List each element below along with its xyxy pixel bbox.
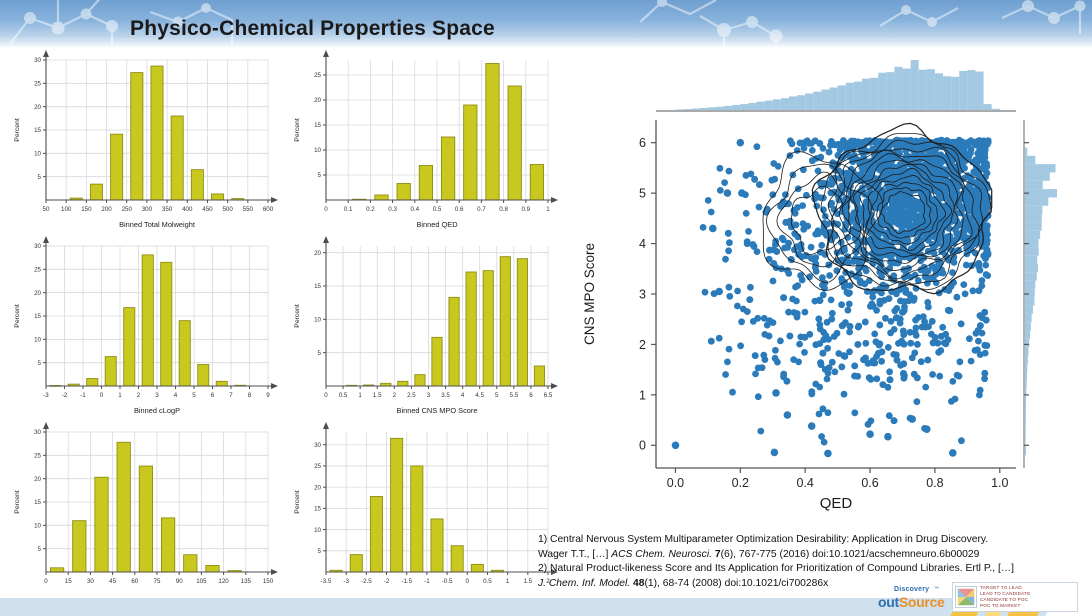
svg-text:1: 1	[639, 388, 646, 402]
svg-text:30: 30	[34, 429, 41, 436]
svg-text:25: 25	[34, 81, 41, 88]
svg-text:6.5: 6.5	[544, 392, 553, 399]
bar	[73, 521, 86, 572]
svg-text:0.3: 0.3	[388, 206, 397, 213]
chart-canvas-qed: 00.10.20.30.40.50.60.70.80.91510152025Bi…	[288, 50, 560, 236]
bar	[206, 565, 219, 572]
svg-text:-3.5: -3.5	[321, 578, 332, 585]
logo-out-part: out	[878, 594, 899, 610]
svg-text:0: 0	[44, 578, 48, 585]
svg-text:550: 550	[243, 206, 254, 213]
bar	[105, 357, 116, 386]
svg-text:15: 15	[34, 499, 41, 506]
histogram-cns-mpo: 00.511.522.533.544.555.566.55101520Binne…	[288, 236, 560, 422]
svg-text:500: 500	[222, 206, 233, 213]
svg-text:600: 600	[263, 206, 274, 213]
svg-text:-3: -3	[343, 578, 349, 585]
bar	[451, 546, 463, 572]
page-title: Physico-Chemical Properties Space	[130, 17, 495, 41]
bar	[508, 86, 521, 200]
citation-1-authors: Wager T.T., […]	[538, 549, 611, 560]
svg-text:5: 5	[318, 172, 322, 179]
bar	[419, 166, 432, 201]
x-axis-label-molweight: Binned Total Molweight	[119, 220, 195, 229]
svg-text:30: 30	[34, 57, 41, 64]
svg-text:-2.5: -2.5	[361, 578, 372, 585]
x-axis-label-cns_mpo: Binned CNS MPO Score	[397, 406, 478, 415]
histogram-qed: 00.10.20.30.40.50.60.70.80.91510152025Bi…	[288, 50, 560, 236]
chart-canvas-tpsa: 015304560759010512013515051015202530Binn…	[8, 422, 280, 608]
histogram-tpsa: 015304560759010512013515051015202530Binn…	[8, 422, 280, 608]
svg-text:5: 5	[495, 392, 499, 399]
bar	[95, 477, 108, 572]
bar	[483, 271, 493, 386]
svg-text:0.7: 0.7	[477, 206, 486, 213]
svg-text:0.5: 0.5	[433, 206, 442, 213]
bar	[191, 170, 203, 200]
bar	[350, 555, 362, 572]
svg-text:2.5: 2.5	[407, 392, 416, 399]
bar	[50, 568, 63, 572]
svg-text:-1: -1	[80, 392, 86, 399]
bar	[432, 337, 442, 386]
svg-text:1: 1	[118, 392, 122, 399]
svg-text:20: 20	[34, 104, 41, 111]
y-axis-label-molweight: Percent	[14, 118, 21, 142]
bar	[517, 259, 527, 386]
svg-text:90: 90	[176, 578, 183, 585]
svg-text:4: 4	[639, 237, 646, 251]
svg-text:10: 10	[34, 151, 41, 158]
bar	[139, 466, 152, 572]
svg-text:150: 150	[263, 578, 274, 585]
bar	[449, 297, 459, 386]
bar	[534, 366, 544, 386]
bar	[179, 321, 190, 386]
bar	[370, 496, 382, 572]
svg-text:10: 10	[314, 527, 321, 534]
svg-text:0.5: 0.5	[339, 392, 348, 399]
svg-text:1: 1	[506, 578, 510, 585]
svg-text:4.5: 4.5	[475, 392, 484, 399]
y-axis-label-tpsa: Percent	[14, 490, 21, 514]
hourglass-icon	[955, 586, 977, 608]
svg-text:10: 10	[34, 337, 41, 344]
svg-text:0.0: 0.0	[667, 476, 684, 490]
bar	[431, 519, 443, 572]
svg-text:30: 30	[314, 442, 321, 449]
chart-canvas-clogp: -3-2-1012345678951015202530Binned cLogPP…	[8, 236, 280, 422]
bar	[131, 73, 143, 200]
svg-text:0.5: 0.5	[483, 578, 492, 585]
svg-text:20: 20	[34, 290, 41, 297]
svg-text:15: 15	[34, 313, 41, 320]
bar	[398, 381, 408, 386]
svg-text:0.6: 0.6	[455, 206, 464, 213]
svg-text:20: 20	[314, 250, 321, 257]
bar	[486, 64, 499, 201]
bar	[111, 134, 123, 200]
logo-source-part: Source	[899, 594, 945, 610]
svg-text:0: 0	[639, 439, 646, 453]
svg-text:3: 3	[427, 392, 431, 399]
svg-text:100: 100	[61, 206, 72, 213]
svg-text:-1.5: -1.5	[401, 578, 412, 585]
citation-2-title: 2) Natural Product-likeness Score and It…	[538, 563, 1014, 574]
svg-text:135: 135	[241, 578, 252, 585]
slide-header: Physico-Chemical Properties Space	[0, 0, 1092, 48]
histogram-grid: 5010015020025030035040045050055060051015…	[8, 50, 560, 602]
svg-text:60: 60	[131, 578, 138, 585]
svg-text:0.2: 0.2	[366, 206, 375, 213]
svg-text:1.5: 1.5	[524, 578, 533, 585]
svg-text:-3: -3	[43, 392, 49, 399]
joint-y-axis-label: CNS MPO Score	[582, 243, 597, 345]
chart-canvas-npl: -3.5-3-2.5-2-1.5-1-0.500.511.52510152025…	[288, 422, 560, 608]
svg-text:0.8: 0.8	[499, 206, 508, 213]
svg-text:3: 3	[639, 287, 646, 301]
citation-1-journal: ACS Chem. Neurosci.	[611, 549, 715, 560]
citation-1-line-2: Wager T.T., […] ACS Chem. Neurosci. 7(6)…	[538, 548, 1086, 563]
citation-2-line-1: 2) Natural Product-likeness Score and It…	[538, 562, 1086, 577]
chart-canvas-molweight: 5010015020025030035040045050055060051015…	[8, 50, 280, 236]
svg-text:0.2: 0.2	[732, 476, 749, 490]
logo-discovery-word: Discovery	[894, 586, 929, 593]
bar	[142, 255, 153, 386]
svg-text:0: 0	[466, 578, 470, 585]
svg-text:5: 5	[38, 174, 42, 181]
joint-x-axis-label: QED	[820, 495, 853, 512]
svg-text:5: 5	[38, 360, 42, 367]
y-axis-label-qed: Percent	[294, 118, 301, 142]
svg-text:150: 150	[81, 206, 92, 213]
bar	[161, 262, 172, 386]
histogram-npl: -3.5-3-2.5-2-1.5-1-0.500.511.52510152025…	[288, 422, 560, 608]
citation-1-line-1: 1) Central Nervous System Multiparameter…	[538, 533, 1086, 548]
svg-text:1.5: 1.5	[373, 392, 382, 399]
svg-text:-0.5: -0.5	[442, 578, 453, 585]
y-axis-label-npl: Percent	[294, 490, 301, 514]
bar	[90, 184, 102, 200]
svg-text:0: 0	[324, 392, 328, 399]
svg-text:20: 20	[34, 476, 41, 483]
svg-text:5: 5	[318, 350, 322, 357]
logo-trademark-symbol: ™	[934, 586, 939, 592]
histogram-clogp: -3-2-1012345678951015202530Binned cLogPP…	[8, 236, 280, 422]
svg-text:2: 2	[137, 392, 141, 399]
x-axis-label-qed: Binned QED	[416, 220, 457, 229]
svg-text:-2: -2	[62, 392, 68, 399]
histogram-molweight: 5010015020025030035040045050055060051015…	[8, 50, 280, 236]
svg-text:4: 4	[174, 392, 178, 399]
logo-tagline-lines: Target to Lead Lead to Candidate Candida…	[980, 585, 1030, 609]
svg-text:50: 50	[43, 206, 50, 213]
svg-text:45: 45	[109, 578, 116, 585]
bar	[391, 438, 403, 572]
svg-text:25: 25	[314, 463, 321, 470]
chart-canvas-cns_mpo: 00.511.522.533.544.555.566.55101520Binne…	[288, 236, 560, 422]
svg-text:300: 300	[142, 206, 153, 213]
bar	[500, 257, 510, 386]
bar	[464, 105, 477, 200]
bar	[198, 365, 209, 386]
logo-discovery-outsource: Discovery ™ outSource	[878, 586, 950, 614]
bar	[530, 165, 543, 201]
bar	[397, 184, 410, 201]
svg-text:-2: -2	[384, 578, 390, 585]
svg-text:0.4: 0.4	[796, 476, 813, 490]
logo-target-to-lead: Target to Lead Lead to Candidate Candida…	[952, 582, 1078, 612]
svg-text:5.5: 5.5	[510, 392, 519, 399]
svg-text:-1: -1	[424, 578, 430, 585]
svg-text:20: 20	[314, 97, 321, 104]
svg-text:7: 7	[229, 392, 233, 399]
svg-text:15: 15	[314, 122, 321, 129]
citation-1-pages-doi: (6), 767-775 (2016) doi:10.1021/acschemn…	[721, 549, 980, 560]
joint-plot-qed-vs-cns-mpo: 0.00.20.40.60.81.00123456QEDCNS MPO Scor…	[568, 48, 1060, 530]
svg-text:0: 0	[324, 206, 328, 213]
y-axis-label-clogp: Percent	[14, 304, 21, 328]
svg-text:9: 9	[266, 392, 270, 399]
svg-text:5: 5	[38, 546, 42, 553]
bar	[117, 442, 130, 572]
svg-text:15: 15	[314, 283, 321, 290]
svg-text:3.5: 3.5	[441, 392, 450, 399]
svg-text:1.0: 1.0	[991, 476, 1008, 490]
logo-tagline-4: PoC to Market	[980, 603, 1030, 609]
svg-text:10: 10	[314, 147, 321, 154]
svg-text:25: 25	[314, 72, 321, 79]
svg-text:0: 0	[100, 392, 104, 399]
svg-text:1: 1	[358, 392, 362, 399]
svg-text:6: 6	[211, 392, 215, 399]
svg-text:30: 30	[34, 243, 41, 250]
svg-text:200: 200	[101, 206, 112, 213]
svg-text:2: 2	[639, 338, 646, 352]
joint-plot-canvas: 0.00.20.40.60.81.00123456QEDCNS MPO Scor…	[568, 48, 1060, 530]
svg-text:15: 15	[314, 506, 321, 513]
bar	[415, 375, 425, 386]
svg-text:120: 120	[218, 578, 229, 585]
svg-text:3: 3	[155, 392, 159, 399]
svg-text:5: 5	[192, 392, 196, 399]
bar	[216, 381, 227, 386]
logo-outsource-word: outSource	[878, 594, 945, 610]
svg-text:6: 6	[529, 392, 533, 399]
svg-text:250: 250	[122, 206, 133, 213]
svg-text:5: 5	[639, 187, 646, 201]
bar	[471, 564, 483, 572]
bar	[171, 116, 183, 200]
svg-text:15: 15	[34, 127, 41, 134]
svg-text:10: 10	[34, 523, 41, 530]
svg-text:1: 1	[546, 206, 550, 213]
svg-text:20: 20	[314, 484, 321, 491]
svg-text:2: 2	[393, 392, 397, 399]
svg-text:25: 25	[34, 267, 41, 274]
bar	[184, 555, 197, 572]
bar	[411, 466, 423, 572]
bar	[151, 66, 163, 200]
svg-text:105: 105	[196, 578, 207, 585]
svg-text:0.8: 0.8	[926, 476, 943, 490]
bar	[87, 379, 98, 386]
svg-text:0.6: 0.6	[861, 476, 878, 490]
svg-text:8: 8	[248, 392, 252, 399]
svg-text:450: 450	[202, 206, 213, 213]
bar	[161, 518, 174, 572]
y-axis-label-cns_mpo: Percent	[294, 304, 301, 328]
svg-text:0.9: 0.9	[521, 206, 530, 213]
bar	[124, 308, 135, 386]
bar	[211, 194, 223, 200]
svg-text:400: 400	[182, 206, 193, 213]
svg-text:350: 350	[162, 206, 173, 213]
bar	[466, 272, 476, 386]
svg-text:0.4: 0.4	[410, 206, 419, 213]
svg-text:5: 5	[318, 548, 322, 555]
svg-text:15: 15	[65, 578, 72, 585]
bar	[441, 137, 454, 200]
x-axis-label-clogp: Binned cLogP	[134, 406, 180, 415]
bar	[375, 195, 388, 200]
svg-text:10: 10	[314, 317, 321, 324]
citation-1-title: 1) Central Nervous System Multiparameter…	[538, 534, 988, 545]
svg-text:75: 75	[154, 578, 161, 585]
svg-text:30: 30	[87, 578, 94, 585]
svg-text:6: 6	[639, 136, 646, 150]
svg-text:25: 25	[34, 453, 41, 460]
svg-text:4: 4	[461, 392, 465, 399]
svg-text:0.1: 0.1	[344, 206, 353, 213]
